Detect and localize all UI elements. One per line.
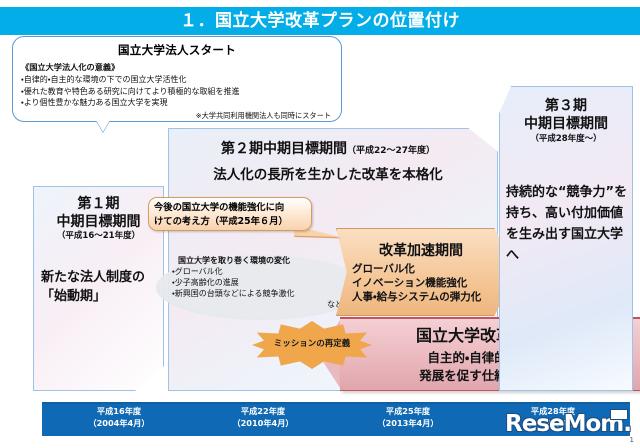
timeline-item: 平成22年度 （2010年4月） xyxy=(188,405,338,429)
timeline-era: 平成22年度 xyxy=(188,405,338,417)
page-number: 1 xyxy=(630,436,634,444)
callout-note: ※大学共同利用機関法人も同時にスタート xyxy=(19,111,335,121)
callout-pointer xyxy=(96,120,110,132)
callout-bullet: ・より個性豊かな魅力ある国立大学を実現 xyxy=(21,97,335,109)
period-3-title-line1: 第３期 xyxy=(499,95,633,115)
period-1-years: （平成16～21年度） xyxy=(33,229,164,241)
period-1-title-line1: 第１期 xyxy=(33,193,164,213)
period-1-body: 新たな法人制度の「始動期」 xyxy=(41,268,161,306)
callout-title: 国立大学法人スタート xyxy=(19,42,335,58)
mission-badge-label: ミッションの再定義 xyxy=(263,331,361,357)
timeline-western-year: （2004年4月） xyxy=(44,417,194,429)
accel-item: グローバル化 xyxy=(352,262,517,277)
timeline-era: 平成25年度 xyxy=(333,405,483,417)
period-3-years: （平成28年度～） xyxy=(499,132,633,144)
future-policy-callout: 今後の国立大学の機能強化に向 けての考え方（平成25年６月） xyxy=(148,197,312,231)
slide-canvas: １．国立大学改革プランの位置付け 国立大学法人スタート 《国立大学法人化の意義》… xyxy=(0,0,640,448)
accel-title: 改革加速期間 xyxy=(336,240,506,260)
timeline-western-year: （2010年4月） xyxy=(188,417,338,429)
callout-bullet: ・優れた教育や特色ある研究に向けてより積極的な取組を推進 xyxy=(21,86,335,98)
environment-heading: 国立大学を取り巻く環境の変化 xyxy=(178,255,347,266)
period-2-title: 第２期中期目標期間（平成22～27年度） xyxy=(168,138,488,158)
page-title: １．国立大学改革プランの位置付け xyxy=(0,9,640,33)
period-3-body: 持続的な“競争力”を持ち、高い付加価値を生み出す国立大学へ xyxy=(506,182,630,266)
callout-subtitle: 《国立大学法人化の意義》 xyxy=(21,61,335,73)
timeline-era: 平成16年度 xyxy=(44,405,194,417)
environment-etc: など xyxy=(172,299,347,310)
callout-bullet: ・自律的・自主的な環境の下での国立大学活性化 xyxy=(21,74,335,86)
period-1-title-line2: 中期目標期間 xyxy=(33,211,164,231)
environment-change-block: 国立大学を取り巻く環境の変化 ・グローバル化 ・少子高齢化の進展 ・新興国の台頭… xyxy=(172,255,347,310)
yellow-callout-line1: 今後の国立大学の機能強化に向 xyxy=(154,201,306,215)
accel-item: 人事・給与システムの弾力化 xyxy=(352,290,517,305)
period-2-years: （平成22～27年度） xyxy=(347,146,435,156)
period-3-title-line2: 中期目標期間 xyxy=(499,113,633,133)
timeline-western-year: （2013年4月） xyxy=(333,417,483,429)
period-2-title-text: 第２期中期目標期間 xyxy=(221,141,347,157)
environment-bullet: ・新興国の台頭などによる競争激化 xyxy=(172,288,347,299)
national-university-start-callout: 国立大学法人スタート 《国立大学法人化の意義》 ・自律的・自主的な環境の下での国… xyxy=(12,36,342,122)
accel-item: イノベーション機能強化 xyxy=(352,276,517,291)
resemom-watermark: ReseMom. xyxy=(505,409,630,439)
yellow-callout-line2: けての考え方（平成25年６月） xyxy=(154,215,306,229)
period-2-subtitle: 法人化の長所を生かした改革を本格化 xyxy=(168,163,488,183)
timeline-item: 平成25年度 （2013年4月） xyxy=(333,405,483,429)
timeline-item: 平成16年度 （2004年4月） xyxy=(44,405,194,429)
watermark-badge-icon xyxy=(610,409,628,420)
environment-bullet: ・少子高齢化の進展 xyxy=(172,277,347,288)
environment-bullet: ・グローバル化 xyxy=(172,266,347,277)
